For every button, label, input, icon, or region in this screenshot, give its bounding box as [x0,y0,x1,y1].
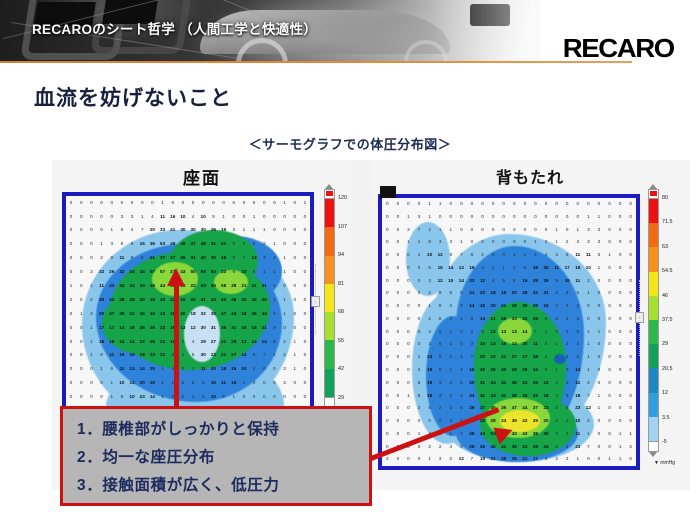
grid-cell: 0 [625,275,636,288]
grid-cell: 13 [488,338,499,351]
grid-cell: 34 [127,279,137,293]
grid-cell: 0 [572,211,583,224]
grid-cell: 1 [280,252,290,266]
grid-cell: 0 [572,198,583,211]
grid-cell: 0 [403,313,414,326]
grid-cell: 32 [530,287,541,300]
grid-cell: 0 [467,236,478,249]
grid-cell: 2 [541,338,552,351]
grid-cell: 0 [615,249,626,262]
grid-cell: 60 [208,279,218,293]
grid-cell: 0 [393,249,404,262]
grid-cell: 0 [239,196,249,210]
grid-cell: 21 [158,349,168,363]
grid-cell: 3 [239,238,249,252]
grid-cell: 0 [530,211,541,224]
grid-cell: 0 [393,351,404,364]
grid-cell: 6 [435,338,446,351]
grid-cell: 3 [456,300,467,313]
grid-cell: 0 [456,338,467,351]
grid-cell: 1 [259,265,269,279]
grid-cell: 0 [300,321,310,335]
grid-cell: 1 [158,390,168,404]
grid-cell: 0 [107,210,117,224]
grid-cell: 14 [249,335,259,349]
grid-cell: 0 [280,224,290,238]
grid-cell: 1 [239,224,249,238]
grid-cell: 0 [562,211,573,224]
grid-cell: 0 [520,198,531,211]
grid-cell: 33 [158,224,168,238]
grid-cell: 5 [435,313,446,326]
grid-cell: 20 [137,377,147,391]
grid-cell: 5 [208,210,218,224]
grid-cell: 1 [583,326,594,339]
grid-cell: 0 [414,287,425,300]
grid-cell: 9 [435,351,446,364]
grid-cell: 5 [445,287,456,300]
grid-cell: 3 [435,236,446,249]
grid-cell: 0 [435,211,446,224]
grid-cell: 1 [583,351,594,364]
grid-cell: 1 [424,300,435,313]
grid-cell: 8 [541,364,552,377]
grid-cell: 5 [551,440,562,453]
grid-cell: 4 [541,453,552,466]
grid-cell: 26 [208,224,218,238]
grid-cell: 16 [127,321,137,335]
grid-cell: 0 [290,390,300,404]
grid-cell: 1 [86,349,96,363]
grid-cell: 0 [488,198,499,211]
grid-cell: 0 [280,279,290,293]
seat-color-scale: 120107948168554229 ◦ [324,184,335,408]
grid-cell: 0 [625,300,636,313]
grid-cell: 19 [498,287,509,300]
grid-cell: 29 [520,364,531,377]
grid-cell: 0 [393,338,404,351]
grid-cell: 15 [435,262,446,275]
grid-cell: 0 [445,198,456,211]
grid-cell: 1 [594,402,605,415]
grid-cell: 1 [280,293,290,307]
grid-cell: 1 [445,351,456,364]
grid-cell: 0 [414,338,425,351]
grid-cell: 20 [147,363,157,377]
grid-cell: 14 [572,364,583,377]
grid-cell: 0 [604,275,615,288]
backrest-scale-ticks: 8071.56354.54637.52920.5123.5-5 [662,184,696,457]
grid-cell: 31 [520,377,531,390]
grid-cell: 2 [562,428,573,441]
scale-tick-label: 29 [338,395,344,401]
scale-tick-label: 81 [338,281,344,287]
grid-cell: 0 [615,351,626,364]
grid-cell: 0 [76,363,86,377]
grid-cell: 1 [551,364,562,377]
grid-cell: 9 [107,252,117,266]
grid-cell: 21 [219,349,229,363]
grid-cell: 0 [625,364,636,377]
grid-cell: 0 [249,390,259,404]
grid-cell: 0 [86,390,96,404]
grid-cell: 21 [488,313,499,326]
grid-cell: 1 [498,262,509,275]
grid-cell: 0 [625,249,636,262]
grid-cell: 0 [414,326,425,339]
grid-cell: 1 [280,307,290,321]
grid-cell: 33 [219,265,229,279]
grid-cell: 4 [456,364,467,377]
scale-segment [325,284,334,312]
grid-cell: 1 [572,224,583,237]
grid-cell: 0 [615,198,626,211]
grid-cell: 1 [107,224,117,238]
scale-slider-knob[interactable]: ◦ [635,312,644,323]
grid-cell: 36 [509,377,520,390]
grid-cell: 0 [66,349,76,363]
grid-cell: 0 [551,211,562,224]
grid-cell: 32 [198,307,208,321]
grid-cell: 15 [477,300,488,313]
grid-cell: 42 [107,293,117,307]
scale-segment [325,199,334,227]
grid-cell: 3 [445,236,456,249]
grid-cell: 1 [615,440,626,453]
grid-cell: 49 [168,238,178,252]
grid-cell: 8 [509,275,520,288]
scale-slider-knob[interactable]: ◦ [311,296,320,307]
grid-cell: 0 [467,198,478,211]
grid-cell: 5 [414,389,425,402]
grid-cell: 31 [477,389,488,402]
grid-cell: 1 [583,211,594,224]
scale-tick-label: 71.5 [662,219,673,225]
grid-cell: 20 [208,363,218,377]
arrow-to-seat-map [172,268,181,408]
grid-cell: 14 [239,349,249,363]
grid-cell: 0 [290,307,300,321]
grid-cell: 3 [107,238,117,252]
grid-cell: 0 [86,363,96,377]
grid-cell: 11 [530,338,541,351]
grid-cell: 0 [117,196,127,210]
grid-cell: 15 [467,364,478,377]
grid-cell: 22 [137,335,147,349]
grid-cell: 0 [498,249,509,262]
grid-cell: 10 [178,210,188,224]
scale-segment [649,199,658,223]
grid-cell: 2 [414,364,425,377]
grid-cell: 2 [551,300,562,313]
grid-cell: 0 [66,321,76,335]
grid-cell: 23 [147,349,157,363]
grid-cell: 16 [127,349,137,363]
grid-cell: 1 [249,363,259,377]
grid-cell: 11 [551,262,562,275]
grid-cell: 42 [498,377,509,390]
grid-cell: 0 [382,300,393,313]
grid-cell: 3 [127,210,137,224]
grid-cell: 1 [445,338,456,351]
scale-top-cap [324,189,335,198]
grid-cell: 0 [615,300,626,313]
grid-cell: 0 [280,390,290,404]
grid-cell: 0 [594,440,605,453]
grid-cell: 0 [615,287,626,300]
grid-cell: 0 [583,313,594,326]
grid-cell: 0 [300,265,310,279]
grid-cell: 1 [456,351,467,364]
grid-cell: 0 [66,390,76,404]
grid-cell: 21 [219,335,229,349]
grid-cell: 20 [147,224,157,238]
grid-cell: 0 [615,313,626,326]
grid-cell: 0 [562,198,573,211]
grid-cell: 1 [414,249,425,262]
grid-cell: 14 [509,338,520,351]
grid-cell: 1 [583,338,594,351]
grid-cell: 49 [198,238,208,252]
grid-cell: 12 [541,377,552,390]
grid-cell: 2 [562,236,573,249]
grid-cell: 0 [259,390,269,404]
grid-cell: 1 [403,211,414,224]
grid-cell: 40 [198,252,208,266]
grid-cell: 0 [615,402,626,415]
grid-cell: 1 [594,389,605,402]
grid-cell: 0 [97,196,107,210]
grid-cell: 40 [137,293,147,307]
grid-cell: 0 [382,262,393,275]
grid-cell: 14 [520,326,531,339]
grid-cell: 5 [572,287,583,300]
grid-cell: 0 [615,338,626,351]
grid-cell: 10 [208,390,218,404]
grid-cell: 3 [414,211,425,224]
grid-cell: 0 [414,275,425,288]
grid-cell: 11 [583,249,594,262]
backrest-scale-bar [648,198,659,442]
seat-scale-bar [324,198,335,398]
grid-cell: 3 [583,236,594,249]
grid-cell: 14 [467,300,478,313]
grid-cell: 8 [249,349,259,363]
grid-cell: 0 [583,300,594,313]
grid-cell: 0 [249,196,259,210]
grid-cell: 1 [259,224,269,238]
grid-cell: 1 [86,279,96,293]
grid-cell: 8 [435,300,446,313]
grid-cell: 0 [290,279,300,293]
grid-cell: 0 [615,211,626,224]
grid-cell: 30 [477,364,488,377]
grid-cell: 0 [382,249,393,262]
grid-cell: 50 [188,265,198,279]
grid-cell: 0 [382,211,393,224]
grid-cell: 2 [269,252,279,266]
grid-cell: 1 [551,338,562,351]
grid-cell: 7 [583,440,594,453]
panel-backrest-title: 背もたれ [370,164,690,188]
grid-cell: 5 [456,377,467,390]
scale-tick-label: 29 [662,341,668,347]
grid-cell: 0 [66,196,76,210]
grid-cell: 11 [117,252,127,266]
grid-cell: 19 [572,389,583,402]
grid-cell: 0 [456,198,467,211]
grid-cell: 0 [300,363,310,377]
grid-cell: 0 [76,238,86,252]
grid-cell: 0 [393,389,404,402]
scale-segment [649,393,658,417]
grid-cell: 0 [66,265,76,279]
grid-cell: 28 [520,287,531,300]
grid-cell: 19 [562,275,573,288]
grid-cell: 0 [393,236,404,249]
grid-cell: 1 [604,453,615,466]
grid-cell: 16 [219,252,229,266]
scale-segment [649,417,658,441]
backrest-color-scale: 8071.56354.54637.52920.5123.5-5 ▼ mmHg ◦ [648,184,659,457]
grid-cell: 0 [615,326,626,339]
grid-cell: 0 [300,210,310,224]
grid-cell: 1 [280,196,290,210]
grid-cell: 0 [615,224,626,237]
grid-cell: 14 [137,363,147,377]
grid-cell: 11 [97,279,107,293]
grid-cell: 0 [562,224,573,237]
grid-cell: 1 [456,313,467,326]
grid-cell: 3 [562,364,573,377]
grid-cell: 14 [424,351,435,364]
grid-cell: 1 [435,198,446,211]
grid-cell: 2 [467,326,478,339]
grid-cell: 20 [239,293,249,307]
grid-cell: 27 [509,351,520,364]
grid-cell: 46 [229,293,239,307]
grid-cell: 0 [498,236,509,249]
grid-cell: 0 [445,211,456,224]
grid-cell: 0 [269,196,279,210]
grid-cell: 0 [551,326,562,339]
grid-cell: 13 [249,252,259,266]
grid-cell: 0 [594,351,605,364]
grid-cell: 1 [551,236,562,249]
grid-cell: 20 [188,293,198,307]
grid-cell: 26 [137,321,147,335]
grid-cell: 0 [76,349,86,363]
grid-cell: 25 [530,313,541,326]
grid-cell: 2 [259,238,269,252]
grid-cell: 0 [625,224,636,237]
grid-cell: 0 [594,287,605,300]
grid-cell: 0 [290,224,300,238]
grid-cell: 25 [509,300,520,313]
grid-cell: 0 [382,287,393,300]
grid-cell: 1 [594,262,605,275]
grid-cell: 2 [97,252,107,266]
grid-cell: 38 [509,389,520,402]
grid-cell: 1 [66,279,76,293]
grid-cell: 21 [147,252,157,266]
grid-cell: 9 [562,249,573,262]
grid-cell: 0 [97,210,107,224]
grid-cell: 0 [382,351,393,364]
grid-cell: 30 [178,224,188,238]
grid-cell: 0 [76,279,86,293]
grid-cell: 19 [424,377,435,390]
grid-cell: 0 [414,198,425,211]
grid-cell: 4 [198,390,208,404]
grid-cell: 2 [445,389,456,402]
scale-segment [325,256,334,284]
grid-cell: 0 [604,326,615,339]
grid-cell: 34 [488,377,499,390]
scale-tick-label: 37.5 [662,317,673,323]
scale-segment [325,312,334,340]
grid-cell: 0 [403,364,414,377]
grid-cell: 0 [498,211,509,224]
grid-cell: 0 [66,252,76,266]
grid-cell: 1 [424,198,435,211]
scale-segment [325,227,334,255]
grid-cell: 3 [467,338,478,351]
grid-cell: 0 [625,453,636,466]
grid-cell: 42 [219,293,229,307]
grid-cell: 12 [583,402,594,415]
scale-tick-label: 80 [662,195,668,201]
grid-cell: 2 [86,293,96,307]
grid-cell: 12 [477,275,488,288]
grid-cell: 16 [97,335,107,349]
grid-cell: 36 [137,307,147,321]
grid-cell: 2 [445,313,456,326]
grid-cell: 28 [229,335,239,349]
grid-cell: 21 [467,287,478,300]
grid-cell: 0 [66,238,76,252]
grid-cell: 40 [259,293,269,307]
grid-cell: 6 [117,224,127,238]
grid-cell: 1 [107,377,117,391]
grid-cell: 0 [86,238,96,252]
grid-cell: 2 [551,377,562,390]
grid-cell: 1 [615,428,626,441]
grid-cell: 20 [488,300,499,313]
grid-cell: 2 [541,351,552,364]
grid-cell: 9 [269,321,279,335]
grid-cell: 1 [445,326,456,339]
grid-cell: 1 [414,351,425,364]
grid-cell: 0 [66,377,76,391]
grid-cell: 0 [290,238,300,252]
grid-cell: 4 [127,224,137,238]
grid-cell: 0 [615,389,626,402]
scale-tick-label: 94 [338,252,344,258]
grid-cell: 10 [445,275,456,288]
grid-cell: 0 [249,377,259,391]
grid-cell: 0 [403,338,414,351]
grid-cell: 1 [86,335,96,349]
grid-cell: 0 [393,313,404,326]
grid-cell: 18 [239,307,249,321]
grid-cell: 17 [107,321,117,335]
grid-cell: 1 [269,279,279,293]
grid-cell: 3 [551,287,562,300]
grid-cell: 16 [219,224,229,238]
grid-cell: 30 [97,307,107,321]
grid-cell: 23 [572,402,583,415]
